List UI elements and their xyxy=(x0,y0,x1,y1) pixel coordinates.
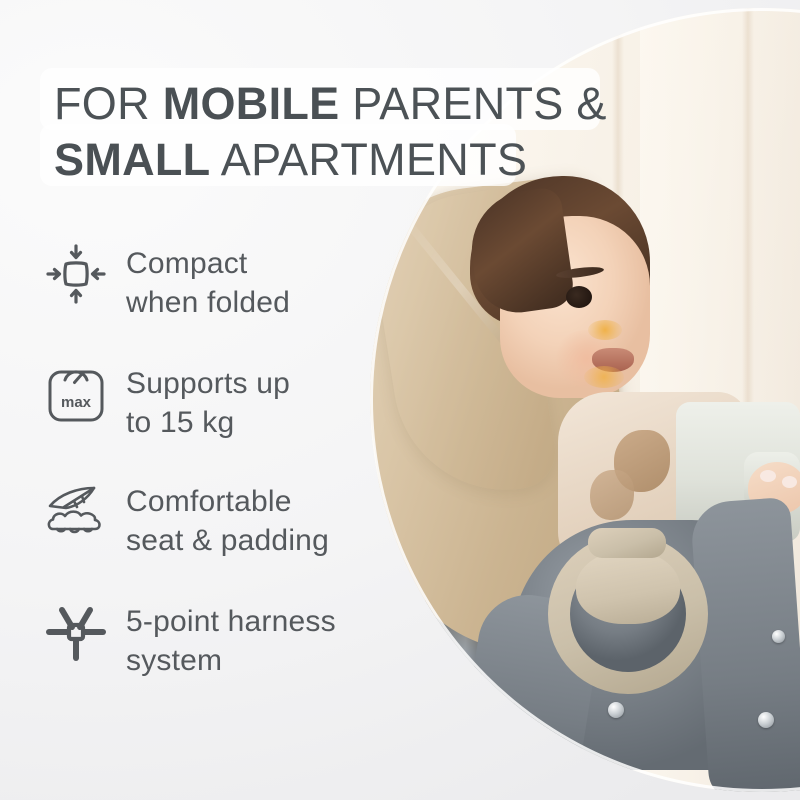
feature-label-comfort: Comfortable seat & padding xyxy=(126,480,329,560)
promo-graphic: FOR MOBILE PARENTS & SMALL APARTMENTS Co… xyxy=(0,0,800,800)
headline-line-2: SMALL APARTMENTS xyxy=(54,134,527,185)
feature-label-harness: 5-point harness system xyxy=(126,600,336,680)
page-title: FOR MOBILE PARENTS & SMALL APARTMENTS xyxy=(54,76,654,188)
feature-item-comfort: Comfortable seat & padding xyxy=(44,480,329,560)
feature-item-compact: Compact when folded xyxy=(44,242,290,322)
feature-label-compact: Compact when folded xyxy=(126,242,290,322)
five-point-harness-icon xyxy=(44,600,108,664)
headline-line-1: FOR MOBILE PARENTS & xyxy=(54,78,607,129)
feature-label-weight: Supports up to 15 kg xyxy=(126,362,290,442)
max-weight-scale-icon: max xyxy=(44,362,108,426)
compress-square-icon xyxy=(44,242,108,306)
feather-cloud-icon xyxy=(44,480,108,544)
feature-item-weight: max Supports up to 15 kg xyxy=(44,362,290,442)
svg-text:max: max xyxy=(61,394,92,411)
feature-item-harness: 5-point harness system xyxy=(44,600,336,680)
